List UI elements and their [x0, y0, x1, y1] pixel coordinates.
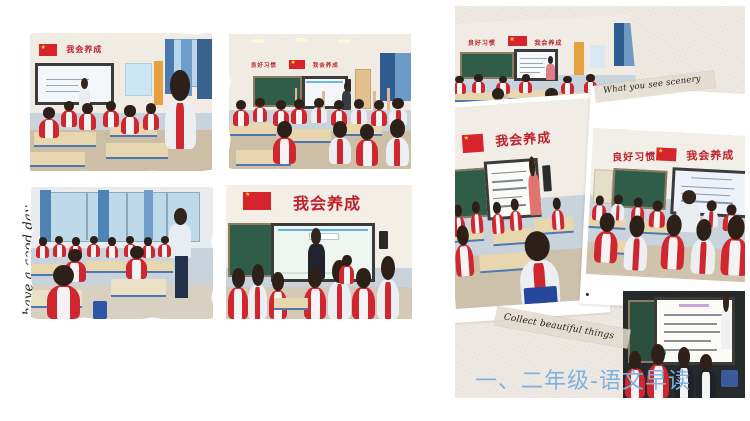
student-figure	[328, 281, 350, 319]
student-figure	[455, 82, 466, 94]
student-figure	[377, 279, 399, 319]
photo-students-writing[interactable]	[27, 183, 217, 323]
photo-teacher-at-board[interactable]: 我会养成	[222, 181, 416, 323]
photo-image-students-writing	[31, 187, 213, 319]
student-figure	[143, 113, 159, 130]
ceiling-light	[295, 38, 308, 42]
student-figure	[472, 81, 485, 93]
speaker-icon	[379, 231, 388, 250]
window-mullion	[126, 192, 129, 240]
curtain	[624, 23, 637, 65]
banner-wohuiyangcheng: 我会养成	[313, 61, 339, 69]
student-figure	[561, 82, 574, 94]
student-figure	[720, 237, 745, 276]
student-figure	[696, 370, 716, 398]
polaroid-corner-dot	[586, 293, 589, 296]
student-figure	[106, 245, 119, 258]
classroom-door	[574, 42, 584, 75]
student-figure	[623, 235, 648, 271]
student-figure	[649, 210, 665, 228]
banner-lianghaoxiguan: 良好习惯	[468, 38, 496, 47]
curtain	[144, 190, 153, 240]
photo-image-teacher-walking-aisle: 良好习惯 我会养成	[586, 128, 745, 283]
student-figure	[311, 107, 327, 123]
student-figure	[339, 265, 354, 284]
photo-image-hands-raised: 良好习惯 我会养成	[229, 34, 411, 169]
smart-board	[35, 63, 114, 105]
right-photo-collage: 良好习惯 我会养成	[455, 6, 745, 398]
chair-back	[524, 286, 558, 308]
window-mullion	[166, 192, 169, 240]
china-flag-icon	[39, 44, 57, 56]
banner-wohuiyangcheng: 我会养成	[66, 44, 102, 55]
student-figure	[61, 110, 77, 127]
student-figure	[228, 287, 248, 319]
photo-teacher-walking-aisle[interactable]: 良好习惯 我会养成	[579, 86, 745, 312]
desk	[274, 298, 307, 311]
student-figure	[233, 110, 249, 126]
student-figure	[551, 209, 564, 230]
curtain	[197, 39, 212, 100]
student-figure	[519, 81, 532, 93]
student-figure	[39, 119, 59, 138]
student-figure	[455, 243, 475, 276]
page-title: 一、二年级-语文早读	[475, 363, 691, 395]
student-figure	[593, 230, 618, 263]
teacher-figure	[169, 224, 191, 258]
student-figure	[351, 108, 367, 124]
student-figure	[253, 107, 268, 122]
desk	[287, 129, 331, 143]
student-figure	[142, 245, 155, 258]
chair-back	[721, 370, 738, 387]
student-figure	[79, 113, 95, 130]
chalkboard	[460, 52, 513, 80]
student-figure-standing	[165, 99, 196, 149]
student-figure	[356, 139, 378, 166]
left-photo-collage: have a good day 我会养成	[0, 0, 430, 421]
student-figure	[158, 244, 171, 257]
china-flag-icon	[508, 36, 527, 45]
wall-chart	[590, 45, 605, 69]
student-figure	[103, 110, 119, 127]
student-figure	[36, 245, 49, 258]
banner-wohuiyangcheng: 我会养成	[293, 190, 361, 214]
curtain	[40, 190, 51, 243]
student-figure	[53, 244, 66, 257]
curtain	[395, 53, 411, 102]
student-figure	[273, 137, 297, 164]
banner-lianghaoxiguan: 良好习惯	[612, 147, 656, 163]
student-figure	[291, 108, 307, 124]
student-figure	[329, 137, 351, 164]
curtain	[98, 190, 109, 243]
student-figure	[371, 110, 387, 126]
banner-wohuiyangcheng: 我会养成	[686, 147, 734, 164]
banner-lianghaoxiguan: 良好习惯	[251, 61, 277, 69]
desk	[106, 143, 168, 159]
chair-back	[93, 301, 108, 319]
desk	[111, 279, 166, 297]
teacher-legs	[175, 256, 188, 298]
wall-poster	[125, 63, 152, 95]
photo-image-classroom-teaching-front: 我会养成	[30, 33, 212, 171]
student-figure	[87, 244, 100, 257]
student-figure	[248, 284, 267, 319]
curtain	[614, 23, 624, 65]
teacher-figure	[546, 64, 556, 81]
raised-arm	[387, 88, 390, 110]
china-flag-icon	[462, 134, 484, 153]
student-figure	[660, 234, 685, 270]
window-mullion	[86, 192, 89, 240]
banner-wohuiyangcheng: 我会养成	[534, 38, 562, 47]
photo-hands-raised[interactable]: 良好习惯 我会养成	[225, 30, 415, 173]
slide-canvas: have a good day 我会养成	[0, 0, 750, 421]
china-flag-icon	[289, 60, 305, 69]
student-figure	[690, 238, 715, 274]
china-flag-icon	[243, 192, 271, 211]
student-figure	[352, 287, 374, 319]
china-flag-icon	[656, 147, 677, 161]
photo-image-teacher-at-board: 我会养成	[226, 185, 412, 319]
student-figure	[47, 285, 80, 319]
student-figure	[121, 116, 139, 134]
desk	[30, 152, 85, 168]
banner-wohuiyangcheng: 我会养成	[495, 127, 552, 150]
student-figure	[386, 137, 410, 167]
desk	[86, 261, 126, 274]
classroom-door	[154, 61, 163, 105]
photo-classroom-teaching-front[interactable]: 我会养成	[26, 29, 216, 175]
student-pointer-figure	[721, 310, 732, 349]
student-figure	[126, 258, 148, 279]
